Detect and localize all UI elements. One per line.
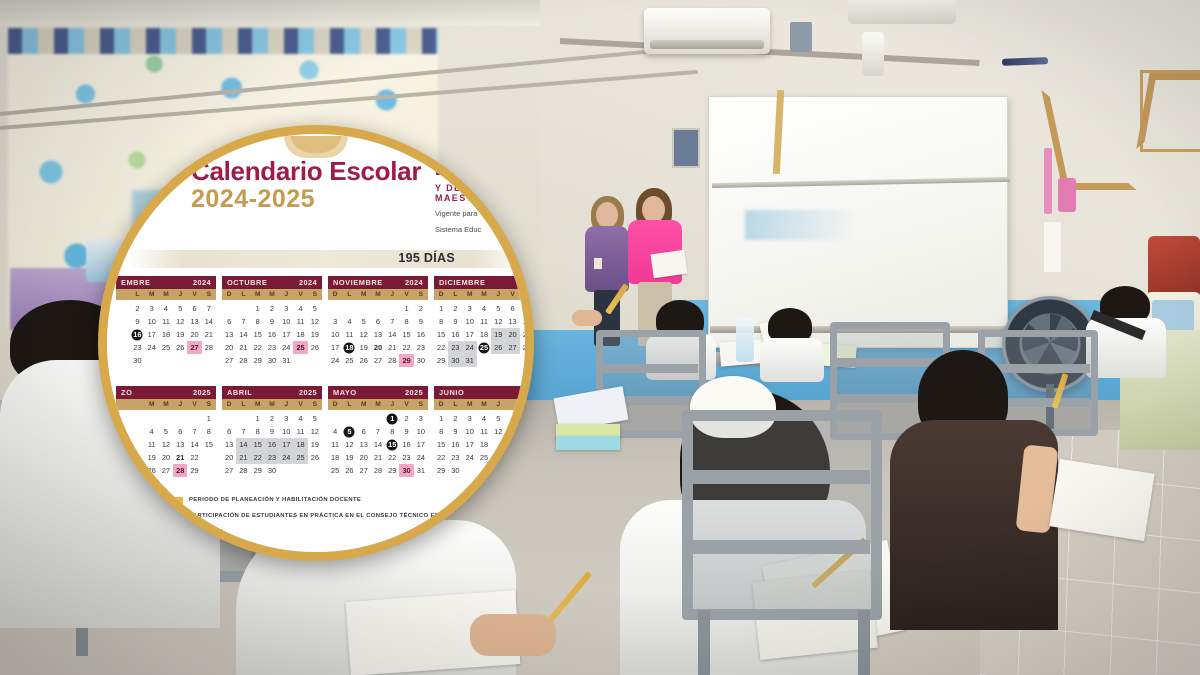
calendar-day[interactable]: 27 <box>222 354 236 367</box>
calendar-day-empty <box>187 412 201 425</box>
calendar-day[interactable]: 9 <box>448 315 462 328</box>
calendar-day[interactable]: 15 <box>251 328 265 341</box>
calendar-day[interactable]: 20 <box>222 341 236 354</box>
calendar-day[interactable]: 22 <box>385 451 399 464</box>
calendar-day[interactable]: 10 <box>279 315 293 328</box>
calendar-day[interactable]: 21 <box>520 328 534 341</box>
calendar-day[interactable]: 23 <box>448 341 462 354</box>
calendar-day[interactable]: 7 <box>202 302 216 315</box>
calendar-day[interactable]: 17 <box>414 438 428 451</box>
calendar-day[interactable]: 5 <box>357 315 371 328</box>
calendar-day[interactable]: 12 <box>308 425 322 438</box>
calendar-day[interactable]: 24 <box>463 451 477 464</box>
weekday-label: J <box>279 399 293 410</box>
calendar-day[interactable]: 16 <box>448 438 462 451</box>
calendar-day[interactable]: 11 <box>159 315 173 328</box>
calendar-day[interactable]: 9 <box>265 315 279 328</box>
calendar-day[interactable]: 19 <box>357 341 371 354</box>
months-grid: EMBRE2024LMMJVS2345679101112131416171819… <box>113 276 534 496</box>
calendar-day[interactable]: 28 <box>236 354 250 367</box>
calendar-day[interactable]: 15 <box>434 438 448 451</box>
calendar-day[interactable]: 27 <box>222 464 236 477</box>
calendar-day[interactable]: 22 <box>434 451 448 464</box>
calendar-day[interactable]: 10 <box>414 425 428 438</box>
calendar-day[interactable]: 14 <box>520 315 534 328</box>
calendar-day[interactable]: 19 <box>173 328 187 341</box>
calendar-day-empty <box>116 341 130 354</box>
calendar-day[interactable]: 25 <box>328 464 342 477</box>
calendar-day[interactable]: 17 <box>279 438 293 451</box>
calendar-day[interactable]: 18 <box>293 438 307 451</box>
calendar-day[interactable]: 27 <box>159 464 173 477</box>
air-conditioner-unit-2 <box>848 0 956 24</box>
calendar-day[interactable]: 30 <box>414 354 428 367</box>
weekday-label: D <box>222 399 236 410</box>
calendar-day[interactable]: 26 <box>308 341 322 354</box>
calendar-day[interactable]: 30 <box>399 464 413 477</box>
calendar-day[interactable]: 30 <box>130 354 144 367</box>
calendar-day[interactable]: 8 <box>251 425 265 438</box>
weekday-label: L <box>342 399 356 410</box>
calendar-day[interactable]: 13 <box>173 438 187 451</box>
calendar-day[interactable]: 20 <box>505 328 519 341</box>
calendar-day-empty <box>159 412 173 425</box>
chair-back <box>682 410 882 620</box>
weekday-label: M <box>371 289 385 300</box>
calendar-day[interactable]: 12 <box>308 315 322 328</box>
calendar-day[interactable]: 2 <box>399 412 413 425</box>
calendar-day[interactable]: 25 <box>477 341 491 354</box>
calendar-day[interactable]: 25 <box>159 341 173 354</box>
weekday-label: M <box>159 289 173 300</box>
calendar-day[interactable]: 25 <box>477 451 491 464</box>
calendar-day[interactable]: 20 <box>357 451 371 464</box>
calendar-day[interactable]: 6 <box>187 302 201 315</box>
calendar-day[interactable]: 27 <box>357 464 371 477</box>
calendar-day[interactable]: 4 <box>159 302 173 315</box>
calendar-day-empty <box>385 302 399 315</box>
calendar-day[interactable]: 7 <box>236 425 250 438</box>
calendar-day[interactable]: 3 <box>279 412 293 425</box>
calendar-day[interactable]: 5 <box>308 412 322 425</box>
calendar-day[interactable]: 19 <box>491 328 505 341</box>
calendar-day[interactable]: 3 <box>414 412 428 425</box>
calendar-day[interactable]: 10 <box>463 425 477 438</box>
calendar-day[interactable]: 11 <box>328 438 342 451</box>
calendar-day[interactable]: 3 <box>328 315 342 328</box>
calendar-day[interactable]: 22 <box>434 341 448 354</box>
calendar-day[interactable]: 3 <box>463 302 477 315</box>
calendar-day-empty <box>130 425 144 438</box>
calendar-day[interactable]: 2 <box>130 302 144 315</box>
month-block: OCTUBRE2024DLMMJVS1234567891011121314151… <box>222 276 322 386</box>
calendar-day[interactable]: 20 <box>222 451 236 464</box>
weekday-label: V <box>187 289 201 300</box>
month-block: NOVIEMBRE2024DLMMJVS12345678910111213141… <box>328 276 428 386</box>
calendar-day[interactable]: 30 <box>265 464 279 477</box>
legend-label: PERIODO DE PLANEACIÓN Y HABILITACIÓN DOC… <box>189 496 361 505</box>
weekday-label: M <box>145 399 159 410</box>
calendar-day[interactable]: 9 <box>399 425 413 438</box>
month-name: NOVIEMBRE <box>333 278 383 287</box>
calendar-day[interactable]: 17 <box>279 328 293 341</box>
calendar-day[interactable]: 28 <box>236 464 250 477</box>
calendar-day[interactable]: 25 <box>293 451 307 464</box>
month-block: MAYO2025DLMMJVS1234567891011121314151617… <box>328 386 428 496</box>
weekday-label <box>130 399 144 410</box>
calendar-day[interactable]: 26 <box>357 354 371 367</box>
calendar-day[interactable]: 25 <box>342 354 356 367</box>
calendar-day[interactable]: 11 <box>477 315 491 328</box>
weekday-header-row: MMJVS <box>116 399 216 410</box>
calendar-day[interactable]: 14 <box>385 328 399 341</box>
calendar-day[interactable]: 15 <box>202 438 216 451</box>
calendar-day[interactable]: 11 <box>477 425 491 438</box>
calendar-day[interactable]: 10 <box>279 425 293 438</box>
calendar-day[interactable]: 8 <box>251 315 265 328</box>
month-header: MAYO2025 <box>328 386 428 399</box>
calendar-day[interactable]: 15 <box>399 328 413 341</box>
calendar-day[interactable]: 19 <box>342 451 356 464</box>
wall-paper-note <box>1044 222 1061 272</box>
weekday-label: L <box>448 289 462 300</box>
calendar-day[interactable]: 22 <box>187 451 201 464</box>
month-name: ABRIL <box>227 388 252 397</box>
calendar-day[interactable]: 8 <box>434 425 448 438</box>
calendar-day[interactable]: 12 <box>159 438 173 451</box>
calendar-day[interactable]: 3 <box>145 302 159 315</box>
calendar-day[interactable]: 28 <box>202 341 216 354</box>
calendar-day[interactable]: 23 <box>448 451 462 464</box>
wall-sensor-device <box>862 32 884 76</box>
calendar-day[interactable]: 19 <box>308 328 322 341</box>
calendar-day[interactable]: 16 <box>399 438 413 451</box>
desk-notebook <box>556 436 620 450</box>
calendar-day[interactable]: 25 <box>293 341 307 354</box>
calendar-day[interactable]: 15 <box>434 328 448 341</box>
calendar-day[interactable]: 15 <box>251 438 265 451</box>
calendar-day[interactable]: 5 <box>491 412 505 425</box>
calendar-day[interactable]: 8 <box>385 425 399 438</box>
calendar-day[interactable]: 1 <box>202 412 216 425</box>
calendar-day[interactable]: 2 <box>448 302 462 315</box>
calendar-day[interactable]: 17 <box>463 328 477 341</box>
legend-color-swatch <box>171 529 183 540</box>
calendar-day[interactable]: 21 <box>371 451 385 464</box>
calendar-day[interactable]: 19 <box>145 451 159 464</box>
calendar-day[interactable]: 17 <box>145 328 159 341</box>
calendar-day[interactable]: 31 <box>463 354 477 367</box>
calendar-day[interactable]: 26 <box>342 464 356 477</box>
weekday-label <box>505 399 519 410</box>
teacher-badge <box>594 258 602 269</box>
calendar-day[interactable]: 11 <box>342 328 356 341</box>
calendar-day[interactable]: 16 <box>265 328 279 341</box>
calendar-day[interactable]: 2 <box>265 302 279 315</box>
weekday-label: M <box>159 399 173 410</box>
calendar-day[interactable]: 30 <box>448 464 462 477</box>
calendar-day[interactable]: 23 <box>399 451 413 464</box>
calendar-day[interactable]: 24 <box>414 451 428 464</box>
calendar-day[interactable]: 28 <box>371 464 385 477</box>
month-days-grid: 1234567891011121314151617181920212223242… <box>222 410 322 477</box>
weekday-label: V <box>399 289 413 300</box>
calendar-day[interactable]: 29 <box>251 354 265 367</box>
calendar-day[interactable]: 4 <box>477 412 491 425</box>
calendar-day[interactable]: 9 <box>414 315 428 328</box>
calendar-day[interactable]: 11 <box>293 315 307 328</box>
calendar-day[interactable]: 10 <box>145 315 159 328</box>
calendar-day[interactable]: 20 <box>187 328 201 341</box>
calendar-day[interactable]: 22 <box>251 451 265 464</box>
calendar-day[interactable]: 5 <box>308 302 322 315</box>
calendar-day[interactable]: 12 <box>357 328 371 341</box>
calendar-day[interactable]: 24 <box>145 341 159 354</box>
calendar-day[interactable]: 24 <box>279 341 293 354</box>
calendar-day[interactable]: 27 <box>505 341 519 354</box>
weekday-label: V <box>187 399 201 410</box>
calendar-day[interactable]: 14 <box>236 438 250 451</box>
calendar-day[interactable]: 8 <box>202 425 216 438</box>
calendar-day-empty <box>328 412 342 425</box>
calendar-day[interactable]: 4 <box>328 425 342 438</box>
calendar-day[interactable]: 5 <box>173 302 187 315</box>
calendar-day[interactable]: 13 <box>357 438 371 451</box>
calendar-day[interactable]: 29 <box>399 354 413 367</box>
calendar-day[interactable]: 5 <box>491 302 505 315</box>
weekday-label: J <box>491 289 505 300</box>
calendar-subtitle-block: E Y DE MAESTR Vigente para Sistema Educ <box>435 160 534 236</box>
calendar-day[interactable]: 2 <box>414 302 428 315</box>
calendar-day[interactable]: 21 <box>173 451 187 464</box>
calendar-day[interactable]: 30 <box>448 354 462 367</box>
weekday-label: S <box>202 289 216 300</box>
pink-bottle <box>1058 178 1076 212</box>
teacher-head <box>596 202 618 228</box>
calendar-day[interactable]: 18 <box>342 341 356 354</box>
legend-color-swatch <box>171 513 183 524</box>
calendar-day[interactable]: 29 <box>187 464 201 477</box>
calendar-day[interactable]: 17 <box>463 438 477 451</box>
calendar-day[interactable]: 29 <box>434 354 448 367</box>
calendar-day[interactable]: 6 <box>371 315 385 328</box>
calendar-day[interactable]: 18 <box>328 451 342 464</box>
calendar-day[interactable]: 30 <box>265 354 279 367</box>
calendar-day[interactable]: 4 <box>477 302 491 315</box>
month-name: MAYO <box>333 388 357 397</box>
month-block: EMBRE2024LMMJVS2345679101112131416171819… <box>116 276 216 386</box>
wooden-triangle-1 <box>1052 90 1126 190</box>
calendar-day[interactable]: 28 <box>385 354 399 367</box>
electrical-junction-box <box>790 22 812 52</box>
calendar-day[interactable]: 15 <box>385 438 399 451</box>
calendar-day[interactable]: 4 <box>293 412 307 425</box>
calendar-day[interactable]: 23 <box>130 341 144 354</box>
calendar-day[interactable]: 19 <box>308 438 322 451</box>
calendar-day[interactable]: 13 <box>222 328 236 341</box>
weekday-label: M <box>357 399 371 410</box>
calendar-title-block: Calendario Escolar 2024-2025 <box>191 158 451 212</box>
calendar-day[interactable]: 14 <box>202 315 216 328</box>
calendar-day[interactable]: 29 <box>434 464 448 477</box>
calendar-day[interactable]: 23 <box>265 341 279 354</box>
calendar-day[interactable]: 1 <box>251 412 265 425</box>
chair-slat <box>692 540 870 554</box>
calendar-circle-overlay: Calendario Escolar 2024-2025 E Y DE MAES… <box>98 125 534 561</box>
calendar-day[interactable]: 26 <box>173 341 187 354</box>
calendar-day[interactable]: 5 <box>342 425 356 438</box>
weekday-label: M <box>357 289 371 300</box>
calendar-day[interactable]: 22 <box>251 341 265 354</box>
calendar-day[interactable]: 2 <box>265 412 279 425</box>
month-header: NOVIEMBRE2024 <box>328 276 428 289</box>
calendar-day[interactable]: 7 <box>187 425 201 438</box>
calendar-day[interactable]: 8 <box>399 315 413 328</box>
teacher-holding-paper <box>650 250 687 278</box>
calendar-day[interactable]: 21 <box>202 328 216 341</box>
calendar-day[interactable]: 7 <box>371 425 385 438</box>
calendar-day[interactable]: 28 <box>173 464 187 477</box>
calendar-day[interactable]: 13 <box>222 438 236 451</box>
calendar-day[interactable]: 5 <box>159 425 173 438</box>
calendar-day-empty <box>342 412 356 425</box>
calendar-day[interactable]: 14 <box>187 438 201 451</box>
calendar-day-empty <box>236 412 250 425</box>
calendar-day[interactable]: 10 <box>328 328 342 341</box>
calendar-day[interactable]: 9 <box>130 315 144 328</box>
calendar-day[interactable]: 4 <box>293 302 307 315</box>
legend-row: PARTICIPACIÓN DE ESTUDIANTES EN PRÁCTICA… <box>171 512 471 524</box>
calendar-day-empty <box>116 425 130 438</box>
calendar-day[interactable]: 21 <box>236 451 250 464</box>
calendar-day[interactable]: 18 <box>477 438 491 451</box>
calendar-day-empty <box>116 315 130 328</box>
calendar-day[interactable]: 13 <box>187 315 201 328</box>
calendar-day[interactable]: 1 <box>251 302 265 315</box>
calendar-day[interactable]: 9 <box>448 425 462 438</box>
calendar-day[interactable]: 8 <box>434 315 448 328</box>
calendar-day[interactable]: 27 <box>371 354 385 367</box>
calendar-day[interactable]: 24 <box>328 354 342 367</box>
calendar-day[interactable]: 16 <box>414 328 428 341</box>
calendar-day[interactable]: 1 <box>434 412 448 425</box>
calendar-day[interactable]: 29 <box>251 464 265 477</box>
weekday-label: J <box>279 289 293 300</box>
government-emblem-icon <box>284 136 348 158</box>
weekday-label: S <box>308 289 322 300</box>
calendar-day[interactable]: 20 <box>159 451 173 464</box>
calendar-day[interactable]: 12 <box>491 315 505 328</box>
calendar-day[interactable]: 31 <box>414 464 428 477</box>
calendar-day[interactable]: 23 <box>265 451 279 464</box>
calendar-day[interactable]: 4 <box>342 315 356 328</box>
calendar-day[interactable]: 3 <box>279 302 293 315</box>
calendar-day[interactable]: 12 <box>173 315 187 328</box>
calendar-day-empty <box>130 451 144 464</box>
calendar-day[interactable]: 17 <box>328 341 342 354</box>
calendar-day[interactable]: 7 <box>385 315 399 328</box>
calendar-day[interactable]: 14 <box>236 328 250 341</box>
calendar-day[interactable]: 2 <box>448 412 462 425</box>
calendar-day[interactable]: 12 <box>491 425 505 438</box>
calendar-legend: PERIODO DE PLANEACIÓN Y HABILITACIÓN DOC… <box>171 496 471 544</box>
calendar-day[interactable]: 16 <box>265 438 279 451</box>
weekday-label: D <box>328 399 342 410</box>
calendar-day[interactable]: 6 <box>505 302 519 315</box>
chair-leg <box>858 610 870 675</box>
calendar-day[interactable]: 1 <box>399 302 413 315</box>
calendar-day[interactable]: 20 <box>371 341 385 354</box>
calendar-day[interactable]: 14 <box>371 438 385 451</box>
month-year: 2024 <box>193 278 211 287</box>
calendar-day[interactable]: 6 <box>222 425 236 438</box>
calendar-day[interactable]: 26 <box>491 341 505 354</box>
calendar-day[interactable]: 18 <box>293 328 307 341</box>
weekday-label: M <box>477 399 491 410</box>
calendar-day-empty <box>491 451 505 464</box>
calendar-day[interactable]: 21 <box>385 341 399 354</box>
weekday-header-row: DLMMJV <box>434 289 534 300</box>
days-count-label: 195 DÍAS <box>398 251 455 265</box>
calendar-day[interactable]: 3 <box>463 412 477 425</box>
calendar-day[interactable]: 24 <box>463 341 477 354</box>
calendar-day[interactable]: 18 <box>159 328 173 341</box>
whiteboard-writing <box>745 210 855 240</box>
calendar-day[interactable]: 18 <box>477 328 491 341</box>
calendar-day-empty <box>505 412 519 425</box>
calendar-day[interactable]: 28 <box>520 341 534 354</box>
legend-label: PARTICIPACIÓN DE ESTUDIANTES EN PRÁCTICA… <box>189 512 462 521</box>
calendar-day[interactable]: 12 <box>342 438 356 451</box>
weekday-label: S <box>414 289 428 300</box>
calendar-day[interactable]: 29 <box>385 464 399 477</box>
weekday-header-row: DLMMJVS <box>328 289 428 300</box>
calendar-day[interactable]: 10 <box>463 315 477 328</box>
calendar-day[interactable]: 16 <box>448 328 462 341</box>
calendar-day[interactable]: 7 <box>236 315 250 328</box>
calendar-day[interactable]: 6 <box>173 425 187 438</box>
calendar-day[interactable]: 23 <box>414 341 428 354</box>
calendar-day[interactable]: 6 <box>222 315 236 328</box>
calendar-day[interactable]: 1 <box>434 302 448 315</box>
calendar-day[interactable]: 4 <box>145 425 159 438</box>
weekday-label: M <box>477 289 491 300</box>
calendar-day[interactable]: 13 <box>505 315 519 328</box>
calendar-day[interactable]: 9 <box>265 425 279 438</box>
legend-color-swatch <box>171 497 183 508</box>
calendar-day[interactable]: 27 <box>187 341 201 354</box>
chair-leg <box>698 610 710 675</box>
calendar-day[interactable]: 26 <box>145 464 159 477</box>
month-name: EMBRE <box>121 278 150 287</box>
calendar-day[interactable]: 24 <box>279 451 293 464</box>
calendar-day[interactable]: 26 <box>308 451 322 464</box>
calendar-day-empty <box>116 464 130 477</box>
calendar-day[interactable]: 16 <box>130 328 144 341</box>
calendar-day[interactable]: 22 <box>399 341 413 354</box>
calendar-day[interactable]: 31 <box>279 354 293 367</box>
calendar-day[interactable]: 11 <box>145 438 159 451</box>
calendar-day[interactable]: 6 <box>357 425 371 438</box>
calendar-day[interactable]: 21 <box>236 341 250 354</box>
calendar-day[interactable]: 11 <box>293 425 307 438</box>
weekday-label: L <box>130 289 144 300</box>
calendar-day[interactable]: 1 <box>385 412 399 425</box>
weekday-label: M <box>251 399 265 410</box>
calendar-day-empty <box>371 302 385 315</box>
calendar-day[interactable]: 13 <box>371 328 385 341</box>
month-block: DICIEMBREDLMMJV1234567891011121314151617… <box>434 276 534 386</box>
